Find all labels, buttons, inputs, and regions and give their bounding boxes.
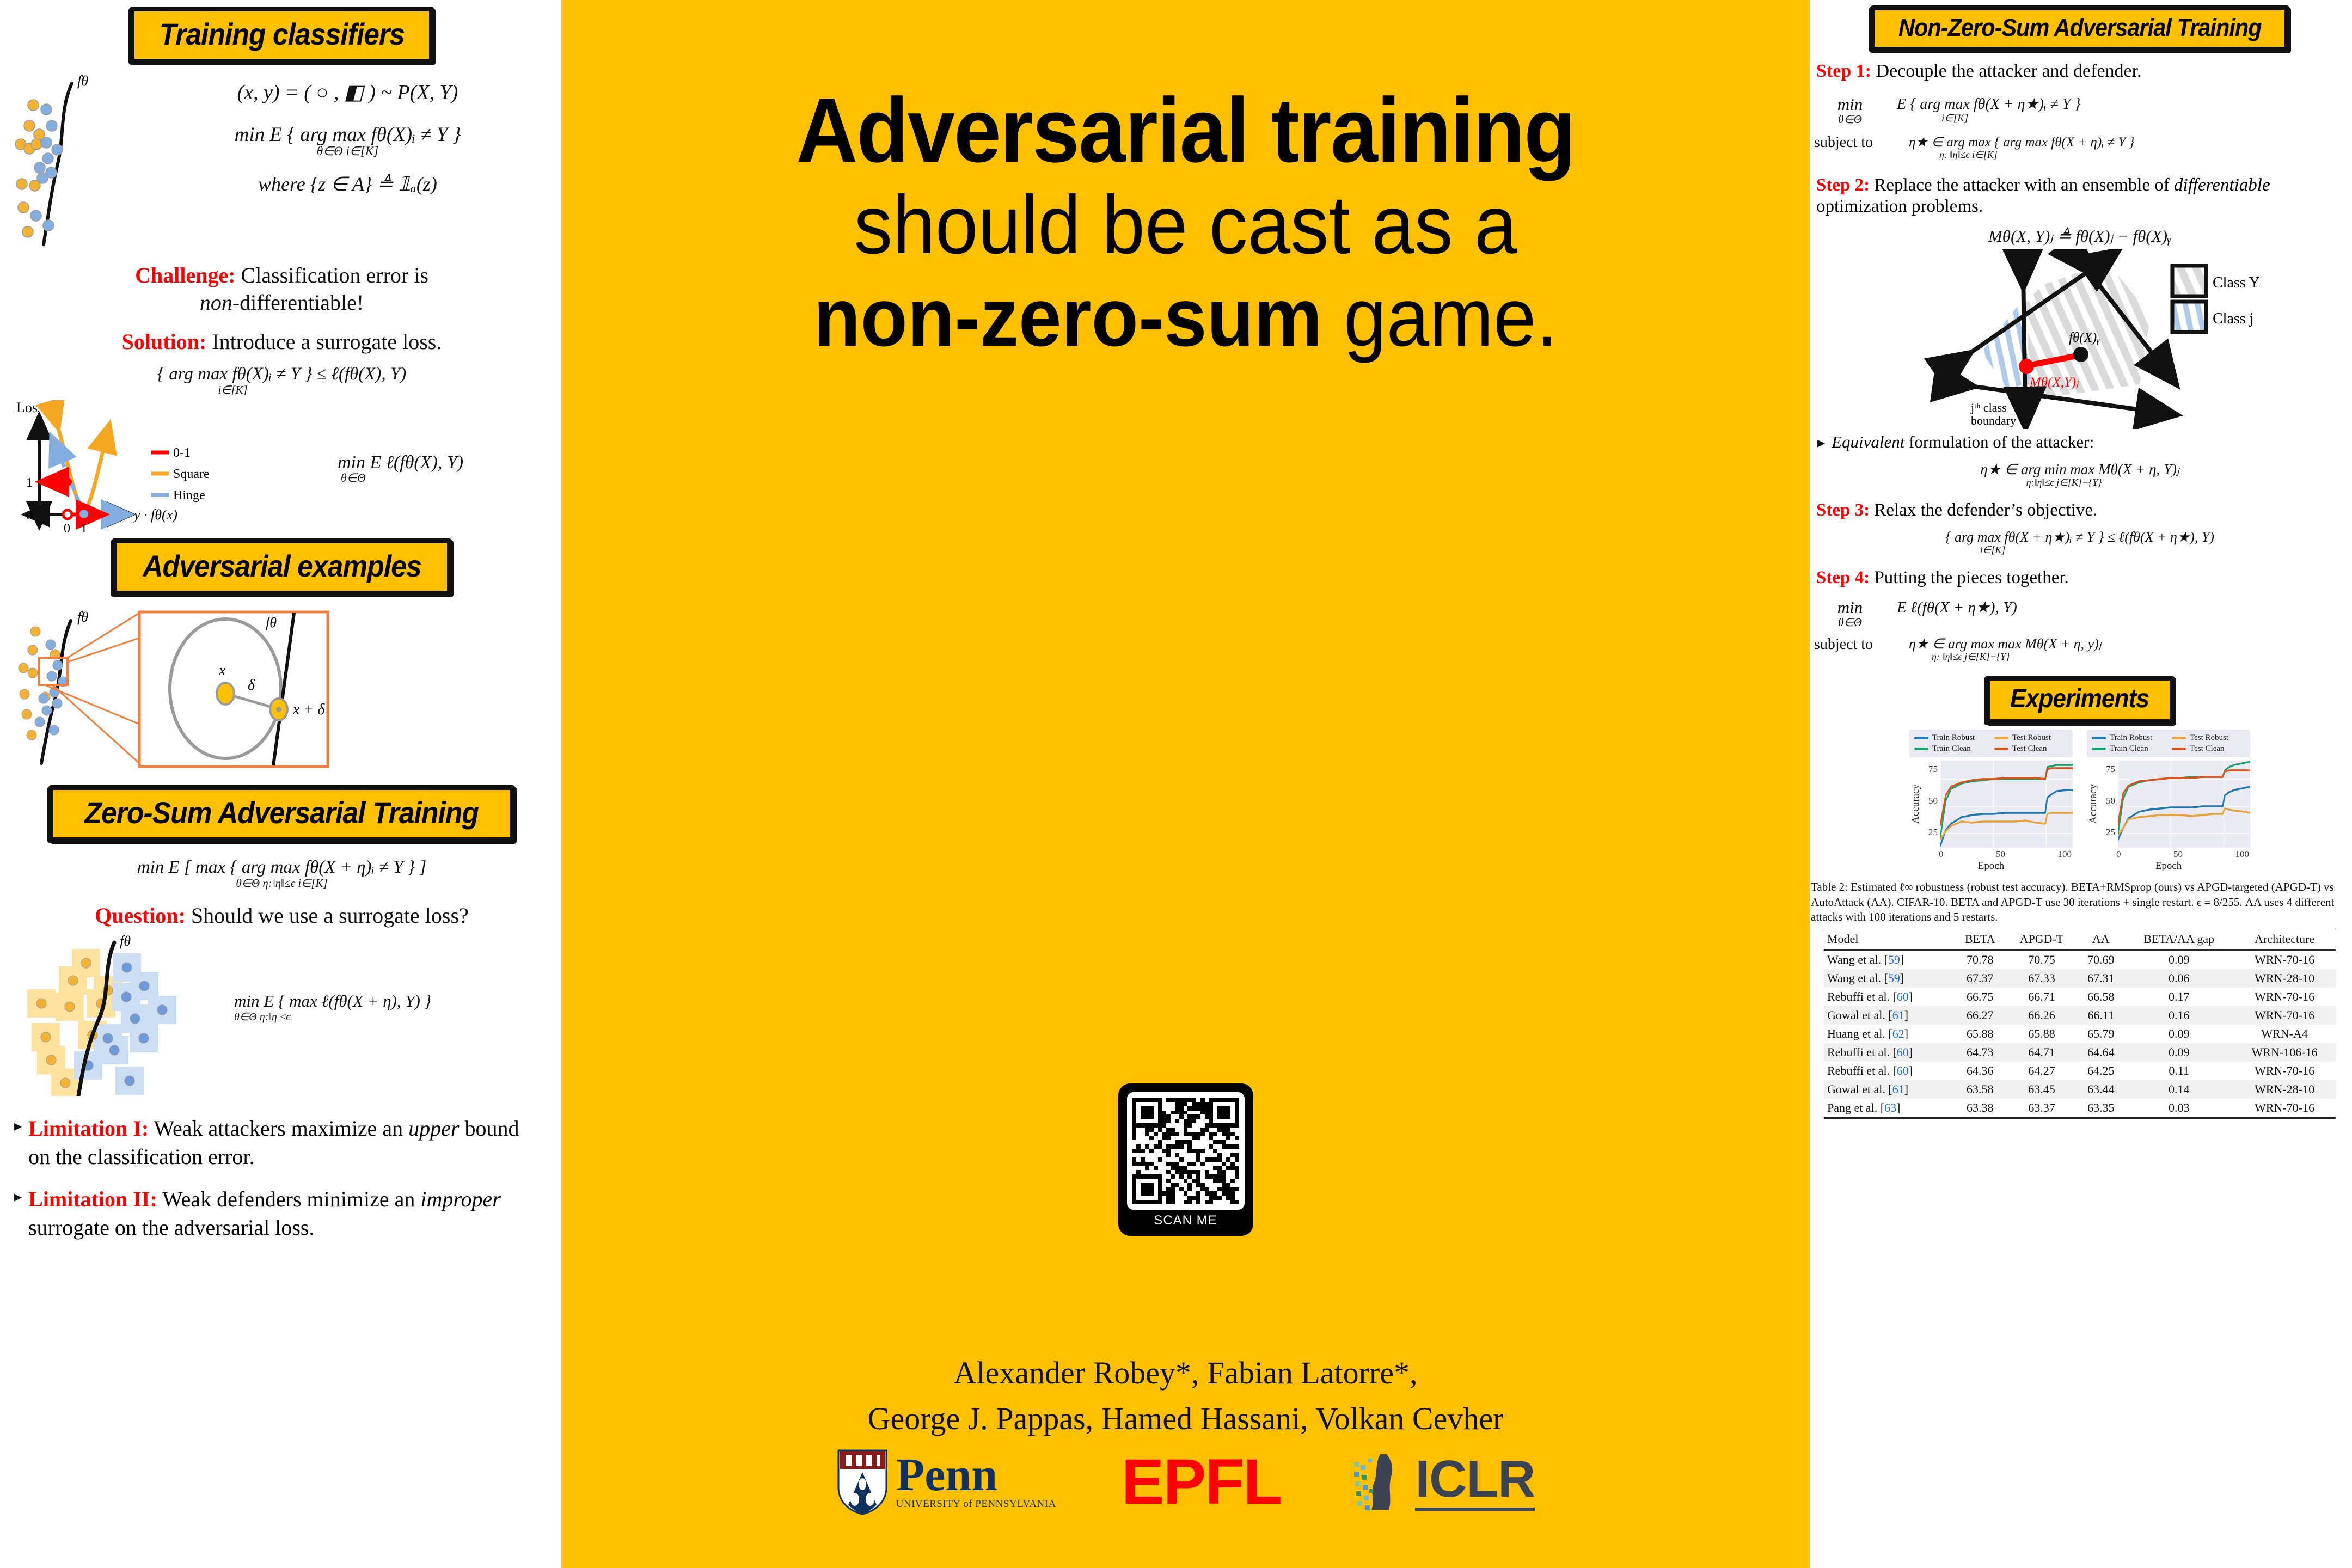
cell-apgd: 70.75 (2006, 950, 2078, 970)
cell-gap: 0.09 (2124, 1025, 2233, 1043)
loss-xtick-0: 0 (64, 522, 70, 536)
x-tick: 0 (2116, 849, 2121, 860)
cell-apgd: 63.45 (2006, 1080, 2078, 1099)
plot-y-ticks: 755025 (2100, 761, 2118, 848)
label-class-boundary-1: jᵗʰ class (1970, 401, 2007, 414)
step-2-text2a: of (2154, 175, 2174, 195)
title-line-3-rest: game. (1322, 271, 1558, 364)
plot-canvas (1940, 761, 2073, 848)
label-x-plus-delta: x + δ (292, 701, 325, 718)
legend-item: Train Robust (1914, 733, 1988, 743)
experiment-plot-2: Train RobustTest RobustTrain CleanTest C… (2087, 730, 2250, 872)
label-f-theta-3: fθ (266, 615, 277, 630)
y-tick: 25 (2100, 827, 2115, 838)
cell-aa: 63.35 (2077, 1099, 2124, 1118)
citation-ref[interactable]: 60 (1897, 1064, 1909, 1077)
cell-model: Rebuffi et al. [60] (1824, 988, 1954, 1006)
step-4-objective: min θ∈Θ E ℓ(fθ(X + η★), Y) (1808, 598, 2352, 629)
label-class-boundary-2: boundary (1971, 414, 2016, 427)
left-column: Training classifiers (0, 0, 563, 1568)
equation-surrogate-bound-sub: i∈[K] (0, 383, 563, 397)
loss-ytick-0: 0 (26, 509, 33, 523)
section-title-nonzerosum: Non-Zero-Sum Adversarial Training (1898, 14, 2262, 42)
loss-legend-hinge: Hinge (173, 488, 205, 503)
loss-xtick-1: 1 (81, 522, 87, 536)
limitation-2-label: Limitation II: (28, 1187, 157, 1211)
cell-gap: 0.16 (2124, 1006, 2233, 1025)
y-tick: 50 (2100, 795, 2115, 806)
cell-model: Huang et al. [62] (1824, 1025, 1954, 1043)
section-title-training-classifiers: Training classifiers (159, 16, 404, 52)
adversarial-examples-figure: fθ (0, 605, 563, 785)
x-tick: 50 (2173, 849, 2183, 860)
step-2-margin-equation: Mθ(X, Y)ⱼ ≜ fθ(X)ⱼ − fθ(X)ᵧ (1808, 226, 2352, 246)
step-4-constraint-expr: η★ ∈ arg max max Mθ(X + η, y)ⱼ (1909, 636, 2345, 652)
class-boundary-svg: fθ(X)ᵧ Mθ(X,Y)ⱼ jᵗʰ class boundary Class… (1889, 249, 2270, 429)
plot-canvas (2118, 761, 2250, 848)
x-tick: 50 (1996, 849, 2005, 860)
plot-y-ticks: 755025 (1922, 761, 1940, 848)
plot-x-ticks: 050100 (2115, 848, 2250, 860)
cell-gap: 0.11 (2124, 1062, 2233, 1080)
step-4-min: min (1817, 598, 1883, 617)
legend-swatch (1994, 737, 2008, 739)
loss-x-axis-label: y · fθ(x) (132, 507, 177, 523)
limitation-1-text: Weak attackers maximize (154, 1116, 377, 1141)
step-2-text2b: optimization problems. (1816, 197, 1983, 216)
step-4-heading: Step 4: Putting the pieces together. (1808, 568, 2352, 588)
loss-function-figure: Loss 1 0 0 1 y · (0, 400, 563, 536)
cell-gap: 0.09 (2124, 1043, 2233, 1062)
step-1-objective-sub: i∈[K] (1941, 112, 2342, 125)
title-line-2: should be cast as a (638, 179, 1734, 271)
y-tick: 75 (2100, 764, 2115, 775)
cell-gap: 0.06 (2124, 969, 2233, 988)
cell-model: Rebuffi et al. [60] (1824, 1043, 1954, 1062)
section-title-zero-sum: Zero-Sum Adversarial Training (85, 795, 479, 830)
loss-legend-square: Square (173, 467, 210, 481)
citation-ref[interactable]: 61 (1892, 1082, 1904, 1096)
legend-item: Test Robust (1994, 733, 2068, 743)
cell-apgd: 64.71 (2006, 1043, 2078, 1062)
cell-apgd: 64.27 (2006, 1062, 2078, 1080)
cell-beta: 70.78 (1954, 950, 2006, 970)
cell-arch: WRN-70-16 (2233, 1062, 2336, 1080)
legend-label: Test Clean (2012, 744, 2047, 754)
legend-swatch (1914, 737, 1928, 739)
plot-x-label: Epoch (2087, 860, 2250, 872)
challenge-label: Challenge: (135, 263, 235, 287)
legend-swatch (2172, 748, 2186, 750)
step-4-constraint: subject to η★ ∈ arg max max Mθ(X + η, y)… (1808, 636, 2352, 663)
equation-min-surrogate-wrap: min E ℓ(fθ(X), Y) θ∈Θ (338, 452, 463, 485)
table-col-header: Architecture (2233, 929, 2336, 950)
cell-aa: 64.64 (2077, 1043, 2124, 1062)
legend-item: Test Robust (2172, 733, 2245, 743)
qr-modules (1132, 1098, 1239, 1204)
cell-beta: 63.38 (1954, 1099, 2006, 1118)
cell-aa: 70.69 (2077, 950, 2124, 970)
cell-gap: 0.09 (2124, 950, 2233, 970)
citation-ref[interactable]: 63 (1884, 1101, 1896, 1114)
solution-text: Introduce a surrogate loss. (212, 329, 442, 354)
step-1-subject-to: subject to (1814, 134, 1901, 151)
poster-title: Adversarial training should be cast as a… (596, 82, 1775, 364)
table-row: Rebuffi et al. [60]66.7566.7166.580.17WR… (1824, 988, 2336, 1006)
section-banner-nonzerosum: Non-Zero-Sum Adversarial Training (1808, 5, 2352, 52)
plot-y-label: Accuracy (1909, 761, 1922, 848)
legend-label: Train Robust (1932, 733, 1975, 743)
cell-aa: 66.58 (2077, 988, 2124, 1006)
cell-arch: WRN-70-16 (2233, 1006, 2336, 1025)
y-tick: 50 (1922, 795, 1938, 806)
bullet-triangle-icon-2: ▸ (14, 1185, 22, 1209)
cell-apgd: 63.37 (2006, 1099, 2078, 1118)
penn-shield-icon (836, 1448, 889, 1516)
equivalent-formulation: ▸ Equivalent formulation of the attacker… (1808, 431, 2352, 455)
step-4-constraint-sub: η: ‖η‖≤ϵ j∈[K]−{Y} (1932, 651, 2345, 663)
step-2-label: Step 2: (1816, 175, 1870, 195)
title-line-3: non-zero-sum game. (638, 271, 1734, 364)
equation-zero-sum-surrogate: min E { max ℓ(fθ(X + η), Y) } (234, 991, 560, 1011)
section-banner-adversarial-examples: Adversarial examples (0, 538, 563, 596)
step-2-emphasis: differentiable (2174, 175, 2270, 195)
cell-arch: WRN-106-16 (2233, 1043, 2336, 1062)
table-header-row: ModelBETAAPGD-TAABETA/AA gapArchitecture (1824, 929, 2336, 950)
equation-sample-pair: (x, y) = ( ○ , ◧ ) ~ P(X, Y) (136, 80, 559, 105)
label-x: x (218, 662, 226, 679)
cell-beta: 65.88 (1954, 1025, 2006, 1043)
cell-aa: 64.25 (2077, 1062, 2124, 1080)
loss-y-axis-label: Loss (16, 400, 43, 415)
table-row: Rebuffi et al. [60]64.7364.7164.640.09WR… (1824, 1043, 2336, 1062)
equivalent-rest: formulation of the attacker: (1904, 432, 2094, 451)
step-1-objective: min θ∈Θ E { arg max fθ(X + η★)ᵢ ≠ Y } i∈… (1808, 95, 2352, 126)
label-f-theta-2: fθ (77, 609, 88, 625)
cell-aa: 67.31 (2077, 969, 2124, 988)
qr-caption: SCAN ME (1127, 1210, 1245, 1233)
penn-subtitle: UNIVERSITY of PENNSYLVANIA (896, 1498, 1056, 1510)
citation-ref[interactable]: 62 (1892, 1027, 1904, 1040)
limitation-2-text: Weak defenders minimize an (162, 1187, 415, 1211)
citation-ref[interactable]: 60 (1897, 990, 1909, 1003)
iclr-word: ICLR (1415, 1453, 1535, 1511)
cell-model: Wang et al. [59] (1824, 950, 1954, 970)
legend-label: Train Clean (1932, 744, 1971, 754)
table-row: Wang et al. [59]67.3767.3367.310.06WRN-2… (1824, 969, 2336, 988)
training-equations: (x, y) = ( ○ , ◧ ) ~ P(X, Y) min E { arg… (136, 80, 559, 195)
legend-class-Y: Class Y (2213, 274, 2260, 291)
legend-swatch (2092, 737, 2106, 739)
step-2-text: Replace the attacker with an ensemble (1874, 175, 2150, 195)
penn-word: Penn (896, 1454, 997, 1496)
cell-aa: 63.44 (2077, 1080, 2124, 1099)
loss-plot-svg: Loss 1 0 0 1 y · (11, 400, 229, 536)
zero-sum-scatter-svg: fθ (13, 933, 242, 1096)
iclr-mark-icon (1346, 1452, 1406, 1512)
cell-gap: 0.14 (2124, 1080, 2233, 1099)
table-row: Wang et al. [59]70.7870.7570.690.09WRN-7… (1824, 950, 2336, 970)
legend-item: Train Clean (2092, 744, 2165, 754)
class-boundary-figure: fθ(X)ᵧ Mθ(X,Y)ⱼ jᵗʰ class boundary Class… (1808, 249, 2352, 429)
legend-swatch (1914, 748, 1928, 750)
qr-image (1127, 1092, 1245, 1210)
cell-aa: 66.11 (2077, 1006, 2124, 1025)
limitation-1-label: Limitation I: (28, 1116, 149, 1141)
table-col-header: BETA/AA gap (2124, 929, 2233, 950)
training-classifiers-figure: fθ (x, y) = ( ○ , ◧ ) ~ P(X, Y) min E { … (0, 71, 563, 256)
equation-min-risk: min E { arg max fθ(X)ᵢ ≠ Y } (136, 123, 559, 146)
solution-block: Solution: Introduce a surrogate loss. (0, 328, 563, 356)
cell-model: Rebuffi et al. [60] (1824, 1062, 1954, 1080)
title-line-1: Adversarial training (638, 82, 1734, 179)
limitation-1: ▸ Limitation I: Weak attackers maximize … (14, 1114, 545, 1171)
question-text: Should we use a surrogate loss? (191, 903, 469, 928)
cell-beta: 67.37 (1954, 969, 2006, 988)
qr-card[interactable]: SCAN ME (1118, 1083, 1253, 1236)
equation-zero-sum-surrogate-sub: θ∈Θ η:‖η‖≤ϵ (234, 1010, 560, 1024)
step-3-label: Step 3: (1816, 500, 1870, 520)
zero-sum-figure: fθ min E { max ℓ(fθ(X + η), Y) } θ∈Θ η:‖… (0, 933, 563, 1096)
legend-label: Test Robust (2190, 733, 2228, 743)
qr-code-block[interactable]: SCAN ME (1118, 1083, 1253, 1236)
cell-gap: 0.17 (2124, 988, 2233, 1006)
step-3-equation: { arg max fθ(X + η★)ᵢ ≠ Y } ≤ ℓ(fθ(X + η… (1808, 529, 2352, 546)
step-4-text: Putting the pieces together. (1874, 568, 2068, 587)
equation-indicator-def: where {z ∈ A} ≜ 𝟙ₐ(z) (136, 173, 559, 195)
loss-ytick-1: 1 (26, 476, 33, 490)
table-row: Gowal et al. [61]63.5863.4563.440.14WRN-… (1824, 1080, 2336, 1099)
cell-apgd: 67.33 (2006, 969, 2078, 988)
citation-ref[interactable]: 61 (1892, 1008, 1904, 1022)
cell-gap: 0.03 (2124, 1099, 2233, 1118)
equation-min-surrogate: min E ℓ(fθ(X), Y) (338, 452, 463, 473)
plot-legend: Train RobustTest RobustTrain CleanTest C… (1909, 730, 2073, 757)
authors-line-1: Alexander Robey*, Fabian Latorre*, (563, 1350, 1808, 1396)
step-1-min-sub: θ∈Θ (1817, 113, 1883, 126)
cell-beta: 63.58 (1954, 1080, 2006, 1099)
challenge-text-emphasis: non (200, 290, 232, 315)
legend-item: Train Clean (1914, 744, 1988, 754)
step-3-equation-sub: i∈[K] (1633, 544, 2352, 556)
citation-ref[interactable]: 59 (1888, 971, 1900, 985)
step-1-text: Decouple the attacker and defender. (1876, 61, 2142, 81)
step-4-label: Step 4: (1816, 568, 1870, 587)
limitation-1-text2a: an (382, 1116, 408, 1141)
robustness-table: ModelBETAAPGD-TAABETA/AA gapArchitecture… (1824, 928, 2336, 1119)
limitation-1-emphasis: upper (408, 1116, 459, 1141)
title-line-3-bold: non-zero-sum (813, 271, 1322, 364)
cell-beta: 66.75 (1954, 988, 2006, 1006)
equation-zero-sum-sub: θ∈Θ η:‖η‖≤ϵ i∈[K] (0, 877, 563, 890)
section-banner-experiments: Experiments (1808, 676, 2352, 724)
experiment-plots: Train RobustTest RobustTrain CleanTest C… (1808, 730, 2352, 872)
legend-item: Train Robust (2092, 733, 2165, 743)
plot-y-label: Accuracy (2087, 761, 2100, 848)
step-1-constraint: subject to η★ ∈ arg max { arg max fθ(X +… (1808, 134, 2352, 161)
challenge-block: Challenge: Classification error is non-d… (0, 262, 563, 316)
cell-apgd: 66.71 (2006, 988, 2078, 1006)
cell-arch: WRN-70-16 (2233, 950, 2336, 970)
legend-swatch (1994, 748, 2008, 750)
cell-model: Gowal et al. [61] (1824, 1080, 1954, 1099)
equivalent-equation: η★ ∈ arg min max Mθ(X + η, Y)ⱼ (1808, 461, 2352, 478)
penn-wordmark: Penn UNIVERSITY of PENNSYLVANIA (896, 1454, 1056, 1510)
legend-label: Test Robust (2012, 733, 2051, 743)
cell-apgd: 65.88 (2006, 1025, 2078, 1043)
label-delta: δ (248, 677, 255, 694)
table-col-header: BETA (1954, 929, 2006, 950)
citation-ref[interactable]: 60 (1897, 1045, 1909, 1059)
step-1-heading: Step 1: Decouple the attacker and defend… (1808, 60, 2352, 83)
y-tick: 25 (1922, 827, 1938, 838)
equation-surrogate-bound: { arg max fθ(X)ᵢ ≠ Y } ≤ ℓ(fθ(X), Y) (0, 364, 563, 384)
label-f-theta-4: fθ (120, 933, 131, 949)
cell-beta: 66.27 (1954, 1006, 2006, 1025)
legend-label: Train Clean (2110, 744, 2148, 754)
legend-item: Test Clean (2172, 744, 2245, 754)
limitation-2: ▸ Limitation II: Weak defenders minimize… (14, 1185, 545, 1242)
label-margin-M: Mθ(X,Y)ⱼ (2029, 375, 2079, 390)
table-row: Gowal et al. [61]66.2766.2666.110.16WRN-… (1824, 1006, 2336, 1025)
step-4-subject-to: subject to (1814, 636, 1901, 653)
bullet-triangle-icon-3: ▸ (1817, 431, 1825, 455)
legend-class-j: Class j (2213, 310, 2253, 327)
step-1-objective-expr: E { arg max fθ(X + η★)ᵢ ≠ Y } (1897, 95, 2342, 113)
equivalent-emphasis: Equivalent (1832, 432, 1904, 451)
solution-label: Solution: (122, 329, 207, 354)
step-1-min: min (1817, 95, 1883, 114)
cell-arch: WRN-70-16 (2233, 988, 2336, 1006)
step-1-constraint-sub: η: ‖η‖≤ϵ i∈[K] (1939, 149, 2345, 161)
challenge-text-rest: -differentiable! (232, 290, 364, 315)
bullet-triangle-icon: ▸ (14, 1114, 22, 1138)
section-title-adversarial-examples: Adversarial examples (143, 548, 421, 584)
table-body: Wang et al. [59]70.7870.7570.690.09WRN-7… (1824, 950, 2336, 1118)
question-block: Question: Should we use a surrogate loss… (0, 902, 563, 929)
cell-beta: 64.36 (1954, 1062, 2006, 1080)
poster-root: Training classifiers (0, 0, 2352, 1568)
table-col-header: APGD-T (2006, 929, 2078, 950)
legend-swatch (2092, 748, 2106, 750)
table-row: Rebuffi et al. [60]64.3664.2764.250.11WR… (1824, 1062, 2336, 1080)
cell-arch: WRN-28-10 (2233, 969, 2336, 988)
cell-arch: WRN-A4 (2233, 1025, 2336, 1043)
legend-item: Test Clean (1994, 744, 2068, 754)
limitation-2-text2b: surrogate on the adversarial loss. (28, 1215, 314, 1240)
label-f-theta-X-Y: fθ(X)ᵧ (2069, 330, 2100, 345)
cell-beta: 64.73 (1954, 1043, 2006, 1062)
section-title-experiments: Experiments (2011, 684, 2149, 714)
x-tick: 0 (1939, 849, 1944, 860)
legend-label: Test Clean (2190, 744, 2225, 754)
table-col-header: AA (2077, 929, 2124, 950)
step-1-constraint-expr: η★ ∈ arg max { arg max fθ(X + η)ᵢ ≠ Y } (1909, 134, 2345, 150)
y-tick: 75 (1922, 764, 1938, 775)
equation-zero-sum: min E [ max { arg max fθ(X + η)ᵢ ≠ Y } ] (0, 857, 563, 878)
equivalent-equation-sub: η:‖η‖≤ϵ j∈[K]−{Y} (1776, 477, 2352, 488)
limitations-list: ▸ Limitation I: Weak attackers maximize … (0, 1114, 563, 1242)
adversarial-example-svg: fθ (5, 605, 550, 780)
equation-zero-sum-surrogate-wrap: min E { max ℓ(fθ(X + η), Y) } θ∈Θ η:‖η‖≤… (234, 991, 560, 1024)
authors-line-2: George J. Pappas, Hamed Hassani, Volkan … (563, 1396, 1808, 1442)
section-banner-zero-sum: Zero-Sum Adversarial Training (0, 785, 563, 842)
step-4-min-sub: θ∈Θ (1817, 616, 1883, 629)
table-row: Pang et al. [63]63.3863.3763.350.03WRN-7… (1824, 1099, 2336, 1118)
cell-aa: 65.79 (2077, 1025, 2124, 1043)
plot-x-label: Epoch (1909, 860, 2073, 872)
table-row: Huang et al. [62]65.8865.8865.790.09WRN-… (1824, 1025, 2336, 1043)
cell-model: Wang et al. [59] (1824, 969, 1954, 988)
center-column: Adversarial training should be cast as a… (563, 0, 1808, 1568)
step-2-heading: Step 2: Replace the attacker with an ens… (1808, 175, 2352, 218)
plot-x-ticks: 050100 (1938, 848, 2073, 860)
plot-axes: Accuracy755025 (2087, 761, 2250, 848)
legend-swatch (2172, 737, 2186, 739)
equation-min-risk-sub: θ∈Θ i∈[K] (136, 144, 559, 158)
question-label: Question: (95, 903, 186, 928)
x-tick: 100 (2058, 849, 2072, 860)
challenge-text: Classification error is (241, 263, 428, 287)
author-list: Alexander Robey*, Fabian Latorre*, Georg… (563, 1350, 1808, 1442)
right-column: Non-Zero-Sum Adversarial Training Step 1… (1808, 0, 2352, 1568)
experiment-plot-1: Train RobustTest RobustTrain CleanTest C… (1909, 730, 2073, 872)
classifier-scatter-svg: fθ (8, 71, 149, 251)
logo-iclr: ICLR (1346, 1452, 1535, 1512)
step-4-objective-expr: E ℓ(fθ(X + η★), Y) (1897, 598, 2342, 617)
step-3-text: Relax the defender’s objective. (1874, 500, 2097, 520)
limitation-2-emphasis: improper (420, 1187, 500, 1211)
section-banner-training-classifiers: Training classifiers (0, 7, 563, 64)
x-tick: 100 (2235, 849, 2250, 860)
loss-legend-01: 0-1 (173, 446, 191, 460)
table-head: ModelBETAAPGD-TAABETA/AA gapArchitecture (1824, 929, 2336, 950)
cell-model: Pang et al. [63] (1824, 1099, 1954, 1118)
logo-penn: Penn UNIVERSITY of PENNSYLVANIA (836, 1448, 1056, 1516)
legend-label: Train Robust (2110, 733, 2152, 743)
cell-arch: WRN-70-16 (2233, 1099, 2336, 1118)
step-1-label: Step 1: (1816, 61, 1871, 81)
citation-ref[interactable]: 59 (1888, 953, 1900, 966)
cell-arch: WRN-28-10 (2233, 1080, 2336, 1099)
table-caption: Table 2: Estimated ℓ∞ robustness (robust… (1811, 880, 2349, 924)
table-col-header: Model (1824, 929, 1954, 950)
logo-epfl: EPFL (1122, 1450, 1282, 1514)
plot-legend: Train RobustTest RobustTrain CleanTest C… (2087, 730, 2250, 757)
cell-model: Gowal et al. [61] (1824, 1006, 1954, 1025)
plot-axes: Accuracy755025 (1909, 761, 2073, 848)
step-3-heading: Step 3: Relax the defender’s objective. (1808, 500, 2352, 520)
cell-apgd: 66.26 (2006, 1006, 2078, 1025)
label-f-theta: fθ (77, 73, 88, 89)
logo-row: Penn UNIVERSITY of PENNSYLVANIA EPFL (563, 1448, 1808, 1516)
